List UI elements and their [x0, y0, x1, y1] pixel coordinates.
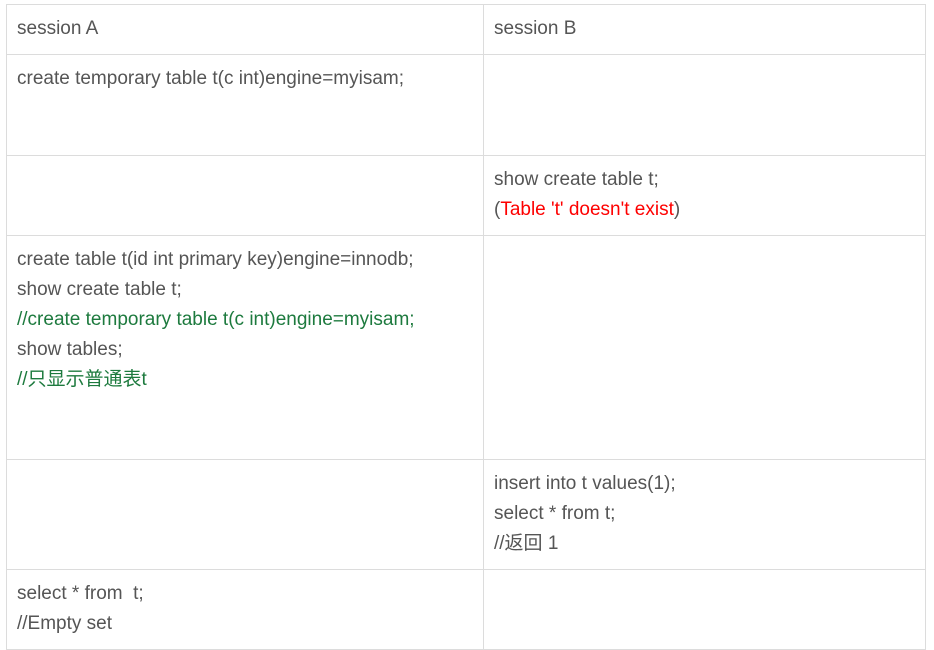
sql-line: show create table t;: [17, 275, 473, 305]
cell-session-a: create temporary table t(c int)engine=my…: [7, 55, 484, 156]
sql-text: ): [674, 199, 680, 220]
error-text: Table 't' doesn't exist: [500, 199, 674, 220]
cell-session-b: [484, 236, 926, 460]
cell-session-b: insert into t values(1);select * from t;…: [484, 460, 926, 570]
sql-line: select * from t;: [17, 579, 473, 609]
table-row: insert into t values(1);select * from t;…: [7, 460, 926, 570]
table-header-row: session A session B: [7, 5, 926, 55]
table-body: session A session B create temporary tab…: [7, 5, 926, 650]
sql-line: show create table t;: [494, 165, 915, 195]
sql-line: //Empty set: [17, 609, 473, 639]
cell-session-b: show create table t;(Table 't' doesn't e…: [484, 156, 926, 236]
sql-line: create table t(id int primary key)engine…: [17, 245, 473, 275]
cell-session-b: [484, 55, 926, 156]
sql-line: (Table 't' doesn't exist): [494, 195, 915, 225]
session-comparison-table: session A session B create temporary tab…: [6, 4, 926, 650]
cell-session-a: create table t(id int primary key)engine…: [7, 236, 484, 460]
column-header-session-a: session A: [7, 5, 484, 55]
column-header-label: session A: [17, 18, 98, 39]
column-header-label: session B: [494, 18, 576, 39]
sql-line: //返回 1: [494, 529, 915, 559]
table-row: select * from t;//Empty set: [7, 570, 926, 650]
cell-session-b: [484, 570, 926, 650]
sql-line: create temporary table t(c int)engine=my…: [17, 64, 473, 94]
cell-session-a: [7, 460, 484, 570]
sql-line: insert into t values(1);: [494, 469, 915, 499]
page-root: session A session B create temporary tab…: [0, 0, 934, 631]
table-row: show create table t;(Table 't' doesn't e…: [7, 156, 926, 236]
sql-line: select * from t;: [494, 499, 915, 529]
cell-session-a: select * from t;//Empty set: [7, 570, 484, 650]
sql-line: //只显示普通表t: [17, 365, 473, 395]
table-row: create table t(id int primary key)engine…: [7, 236, 926, 460]
sql-line: //create temporary table t(c int)engine=…: [17, 305, 473, 335]
column-header-session-b: session B: [484, 5, 926, 55]
cell-session-a: [7, 156, 484, 236]
sql-line: show tables;: [17, 335, 473, 365]
table-row: create temporary table t(c int)engine=my…: [7, 55, 926, 156]
